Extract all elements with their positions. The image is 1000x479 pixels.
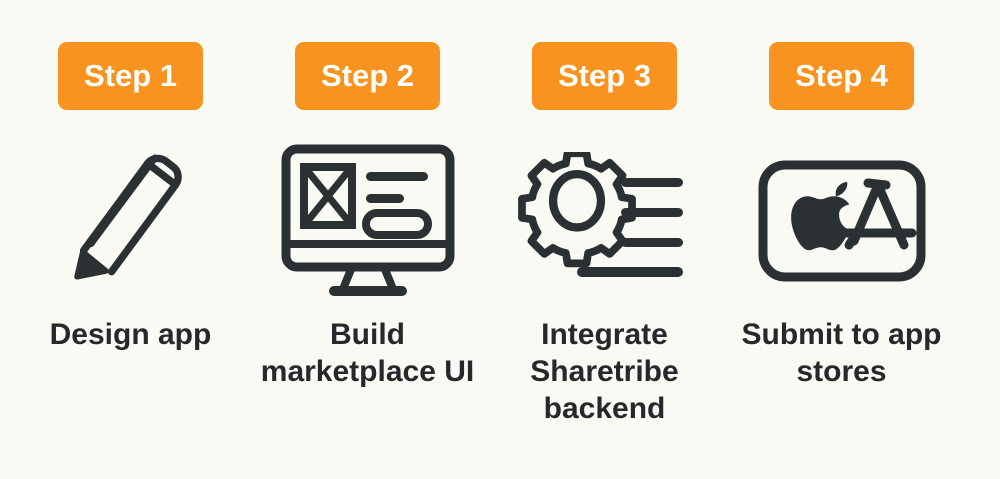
step-badge-2: Step 2 xyxy=(295,42,440,110)
pencil-icon xyxy=(12,142,249,302)
step-item-4: Step 4 xyxy=(723,42,960,390)
step-badge-1: Step 1 xyxy=(58,42,203,110)
steps-infographic: Step 1 Des xyxy=(0,0,1000,479)
step-badge-4: Step 4 xyxy=(769,42,914,110)
gear-settings-icon xyxy=(486,142,723,302)
step-item-1: Step 1 Des xyxy=(12,42,249,353)
step-caption-4: Submit to app stores xyxy=(727,316,957,390)
step-badge-3: Step 3 xyxy=(532,42,677,110)
monitor-wireframe-icon xyxy=(249,142,486,302)
step-item-3: Step 3 Integrate Sharetribe backend xyxy=(486,42,723,428)
step-caption-2: Build marketplace UI xyxy=(253,316,483,390)
steps-row: Step 1 Des xyxy=(0,0,1000,479)
step-item-2: Step 2 xyxy=(249,42,486,390)
step-caption-1: Design app xyxy=(16,316,246,353)
app-store-icon xyxy=(723,142,960,302)
step-caption-3: Integrate Sharetribe backend xyxy=(490,316,720,428)
